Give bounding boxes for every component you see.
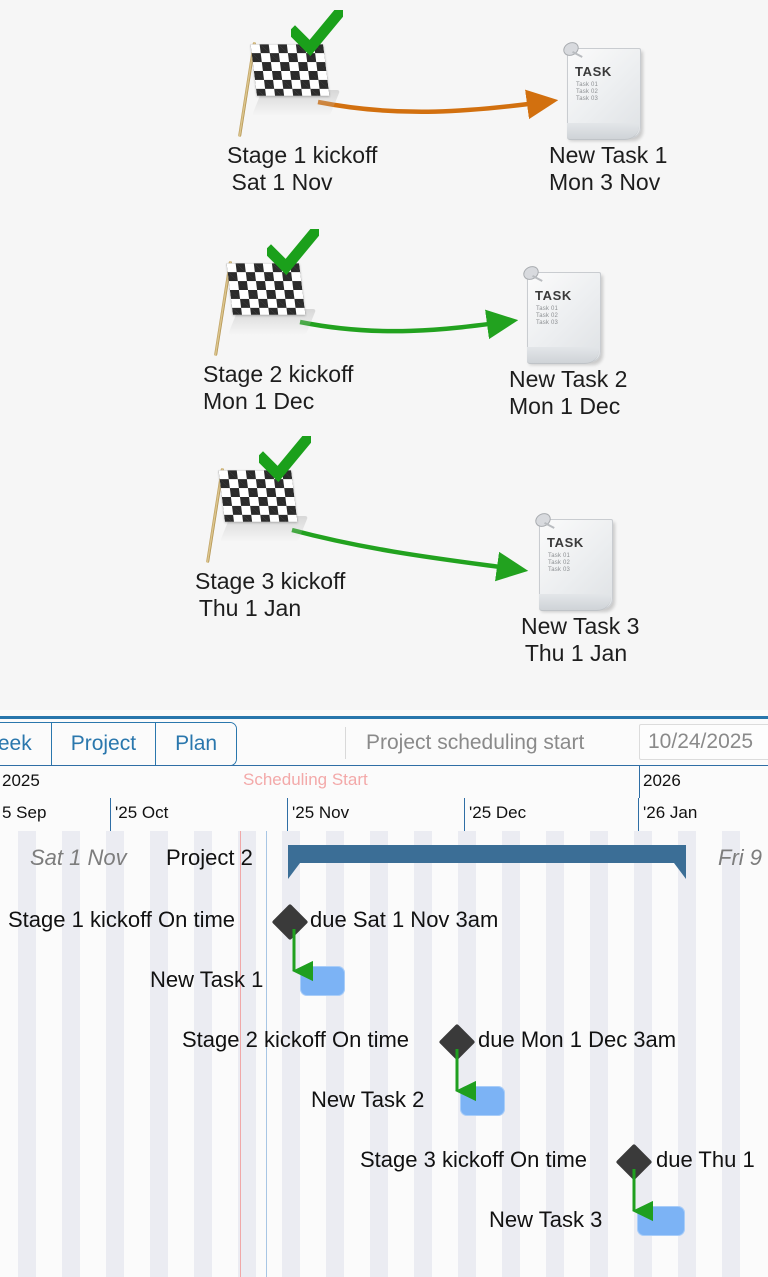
connector-stage2-task2 bbox=[300, 321, 512, 331]
pushpin-icon bbox=[521, 264, 547, 290]
timeline-month-row[interactable]: 5 Sep '25 Oct '25 Nov '25 Dec '26 Jan bbox=[0, 798, 768, 832]
scheduling-start-label: Project scheduling start bbox=[366, 731, 584, 755]
month-label-jan: '26 Jan bbox=[643, 803, 697, 823]
note-title: TASK bbox=[535, 288, 572, 303]
view-button-group: his week Project Plan bbox=[0, 722, 237, 766]
task-note-icon: TASK Task 01 Task 02 Task 03 bbox=[521, 264, 607, 364]
connector-stage3-task3 bbox=[292, 530, 522, 570]
toolbar-separator bbox=[345, 727, 346, 759]
node-title: Stage 2 kickoff bbox=[203, 361, 313, 388]
gantt-row-stage-1-kickoff[interactable]: Stage 1 kickoff On time due Sat 1 Nov 3a… bbox=[0, 891, 768, 951]
note-lines: Task 01 Task 02 Task 03 bbox=[548, 553, 570, 574]
month-label-dec: '25 Dec bbox=[469, 803, 526, 823]
note-lines: Task 01 Task 02 Task 03 bbox=[576, 82, 598, 103]
row-detail: due Mon 1 Dec 3am bbox=[478, 1027, 676, 1053]
node-title: Stage 1 kickoff bbox=[227, 142, 337, 169]
row-label: New Task 1 bbox=[150, 967, 263, 993]
node-date: Mon 1 Dec bbox=[509, 393, 619, 420]
row-detail: due Thu 1 bbox=[656, 1147, 755, 1173]
gantt-row-project-2[interactable]: Sat 1 Nov Project 2 Fri 9 J bbox=[0, 831, 768, 891]
dependency-arrow bbox=[617, 1153, 667, 1223]
gantt-chart-body[interactable]: Sat 1 Nov Project 2 Fri 9 J Stage 1 kick… bbox=[0, 831, 768, 1277]
node-date: Thu 1 Jan bbox=[521, 640, 631, 667]
dependency-arrow bbox=[280, 913, 330, 983]
gantt-panel: his week Project Plan Project scheduling… bbox=[0, 710, 768, 1277]
diagram-node-stage-1-kickoff[interactable]: Stage 1 kickoff Sat 1 Nov bbox=[227, 32, 337, 196]
row-detail: due Sat 1 Nov 3am bbox=[310, 907, 498, 933]
row-label: Stage 2 kickoff On time bbox=[182, 1027, 409, 1053]
diagram-node-new-task-1[interactable]: TASK Task 01 Task 02 Task 03 New Task 1 … bbox=[549, 32, 659, 196]
scheduling-start-marker-label: Scheduling Start bbox=[243, 770, 368, 790]
task-note-icon: TASK Task 01 Task 02 Task 03 bbox=[533, 511, 619, 611]
diagram-node-stage-2-kickoff[interactable]: Stage 2 kickoff Mon 1 Dec bbox=[203, 251, 313, 415]
gantt-toolbar: his week Project Plan Project scheduling… bbox=[0, 719, 768, 765]
gantt-row-new-task-2[interactable]: New Task 2 bbox=[0, 1071, 768, 1131]
node-title: New Task 3 bbox=[521, 613, 631, 640]
note-title: TASK bbox=[575, 64, 612, 79]
row-label: New Task 2 bbox=[311, 1087, 424, 1113]
project-button[interactable]: Project bbox=[52, 723, 156, 765]
timeline-year-row[interactable]: 2025 2026 bbox=[0, 765, 768, 800]
this-week-button[interactable]: his week bbox=[0, 723, 52, 765]
node-title: New Task 1 bbox=[549, 142, 659, 169]
year-label-2025: 2025 bbox=[2, 771, 40, 791]
row-label: Stage 1 kickoff On time bbox=[8, 907, 235, 933]
green-check-icon bbox=[259, 436, 311, 482]
note-title: TASK bbox=[547, 535, 584, 550]
row-left-date: Sat 1 Nov bbox=[30, 845, 127, 871]
gantt-row-new-task-1[interactable]: New Task 1 bbox=[0, 951, 768, 1011]
scheduling-start-input[interactable]: 10/24/2025 bbox=[639, 724, 768, 760]
month-label-sep: 5 Sep bbox=[2, 803, 46, 823]
diagram-node-new-task-3[interactable]: TASK Task 01 Task 02 Task 03 New Task 3 … bbox=[521, 503, 631, 667]
connector-stage1-task1 bbox=[318, 101, 552, 112]
row-label: New Task 3 bbox=[489, 1207, 602, 1233]
node-date: Mon 3 Nov bbox=[549, 169, 659, 196]
summary-bar[interactable] bbox=[288, 845, 688, 879]
year-divider bbox=[639, 766, 640, 799]
node-title: Stage 3 kickoff bbox=[195, 568, 305, 595]
year-label-2026: 2026 bbox=[643, 771, 681, 791]
plan-button[interactable]: Plan bbox=[156, 723, 236, 765]
month-label-oct: '25 Oct bbox=[115, 803, 168, 823]
node-date: Thu 1 Jan bbox=[195, 595, 305, 622]
row-right-date: Fri 9 J bbox=[718, 845, 768, 871]
row-label: Stage 3 kickoff On time bbox=[360, 1147, 587, 1173]
node-date: Sat 1 Nov bbox=[227, 169, 337, 196]
node-title: New Task 2 bbox=[509, 366, 619, 393]
month-label-nov: '25 Nov bbox=[292, 803, 349, 823]
gantt-row-stage-2-kickoff[interactable]: Stage 2 kickoff On time due Mon 1 Dec 3a… bbox=[0, 1011, 768, 1071]
pushpin-icon bbox=[533, 511, 559, 537]
task-note-icon: TASK Task 01 Task 02 Task 03 bbox=[561, 40, 647, 140]
node-date: Mon 1 Dec bbox=[203, 388, 313, 415]
pushpin-icon bbox=[561, 40, 587, 66]
diagram-node-stage-3-kickoff[interactable]: Stage 3 kickoff Thu 1 Jan bbox=[195, 458, 305, 622]
green-check-icon bbox=[267, 229, 319, 275]
green-check-icon bbox=[291, 10, 343, 56]
diagram-node-new-task-2[interactable]: TASK Task 01 Task 02 Task 03 New Task 2 … bbox=[509, 256, 619, 420]
milestone-diagram: Stage 1 kickoff Sat 1 Nov TASK Task 01 T… bbox=[0, 0, 768, 710]
dependency-arrow bbox=[440, 1033, 490, 1103]
gantt-row-new-task-3[interactable]: New Task 3 bbox=[0, 1191, 768, 1251]
row-label: Project 2 bbox=[166, 845, 253, 871]
note-lines: Task 01 Task 02 Task 03 bbox=[536, 306, 558, 327]
